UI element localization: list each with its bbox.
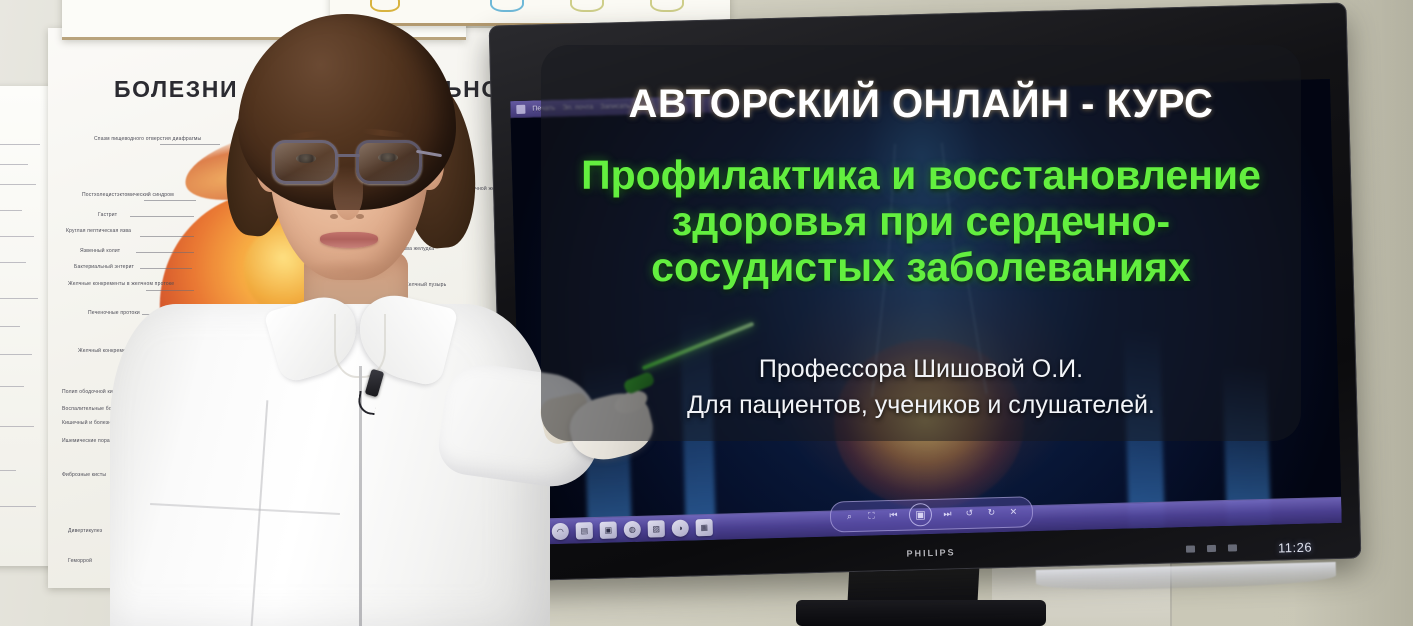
chin-shadow: [304, 258, 396, 284]
explorer-icon[interactable]: ▤: [576, 522, 593, 539]
document-icon[interactable]: ▦: [696, 519, 713, 536]
volume-icon: [1207, 545, 1216, 552]
app-icon[interactable]: ◑: [672, 519, 689, 536]
signal-icon: [1186, 545, 1195, 552]
network-icon: [1228, 544, 1237, 551]
eyeglasses: [270, 136, 432, 188]
media-icon[interactable]: ◍: [624, 521, 641, 538]
zoom-icon[interactable]: ⌕: [843, 510, 856, 523]
subtitle-line-2: Для пациентов, учеников и слушателей.: [557, 388, 1285, 424]
lens-right: [356, 140, 422, 184]
lips: [320, 232, 378, 248]
poster-label: Геморрой: [68, 558, 92, 566]
glasses-bridge: [336, 154, 360, 157]
previous-icon[interactable]: ⏮: [887, 509, 900, 522]
presenter-figure: [90, 14, 560, 626]
rotate-left-icon[interactable]: ↺: [963, 507, 976, 520]
media-control-bar[interactable]: ⌕ ⛶ ⏮ ▣ ⏭ ↺ ↻ ✕: [830, 496, 1034, 532]
fullscreen-icon[interactable]: ⛶: [865, 509, 878, 522]
course-title: АВТОРСКИЙ ОНЛАЙН - КУРС: [541, 82, 1301, 127]
tv-stand-base: [796, 600, 1046, 626]
lens-left: [272, 140, 338, 184]
image-icon[interactable]: ▨: [648, 520, 665, 537]
next-icon[interactable]: ⏭: [941, 507, 954, 520]
window-icon[interactable]: ▣: [600, 521, 617, 538]
tv-clock: 11:26: [1278, 540, 1312, 556]
course-heading: Профилактика и восстановление здоровья п…: [563, 153, 1279, 291]
tv-brand-logo: PHILIPS: [906, 547, 955, 558]
text-overlay-panel: АВТОРСКИЙ ОНЛАЙН - КУРС Профилактика и в…: [541, 45, 1301, 441]
course-subtitle: Профессора Шишовой О.И. Для пациентов, у…: [557, 352, 1285, 423]
rotate-right-icon[interactable]: ↻: [985, 506, 998, 519]
tv-status-icons: [1186, 544, 1237, 552]
screenshot-stage: БОЛЕЗНИ ПИЩЕВАРИТЕЛЬНОЙ СИСТЕМЫ! Спазм п…: [0, 0, 1413, 626]
close-icon[interactable]: ✕: [1007, 506, 1020, 519]
play-icon[interactable]: ▣: [909, 503, 933, 527]
nostril-right: [356, 214, 364, 219]
subtitle-line-1: Профессора Шишовой О.И.: [557, 352, 1285, 388]
nostril-left: [330, 214, 338, 219]
